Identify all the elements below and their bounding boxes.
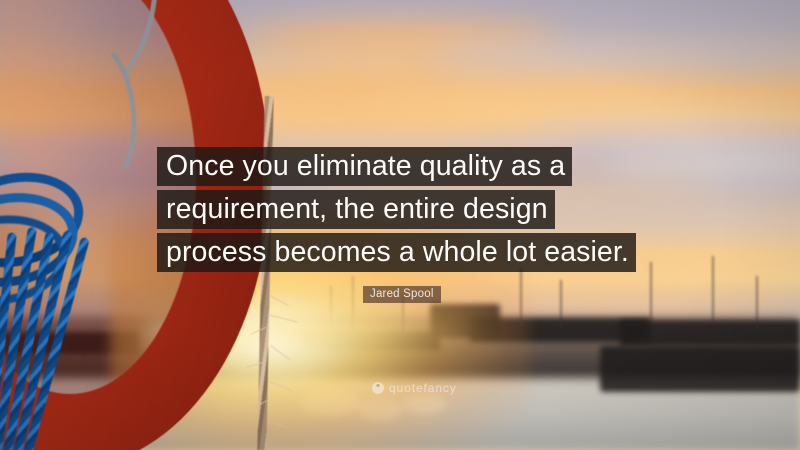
quote-author: Jared Spool — [363, 286, 441, 303]
quote-line-2: requirement, the entire design — [157, 190, 555, 229]
boat-mast — [560, 280, 562, 328]
quote-image-canvas: Once you eliminate quality as a requirem… — [0, 0, 800, 450]
quote-mark-icon: “ — [372, 382, 384, 394]
quotefancy-watermark: “ quotefancy — [372, 381, 457, 395]
boat-mast — [712, 256, 714, 326]
quote-line-1: Once you eliminate quality as a — [157, 147, 572, 186]
harbor-silhouette — [620, 320, 800, 346]
blue-coiled-rope — [0, 168, 146, 450]
watermark-brand-label: quotefancy — [389, 381, 457, 395]
quote-line-3: process becomes a whole lot easier. — [157, 233, 636, 272]
cloud-band — [430, 40, 800, 68]
boat-mast — [756, 276, 758, 328]
cloud-band — [520, 120, 800, 144]
harbor-silhouette — [600, 346, 800, 392]
boat-mast — [650, 262, 652, 324]
quote-text-block: Once you eliminate quality as a requirem… — [157, 147, 636, 276]
